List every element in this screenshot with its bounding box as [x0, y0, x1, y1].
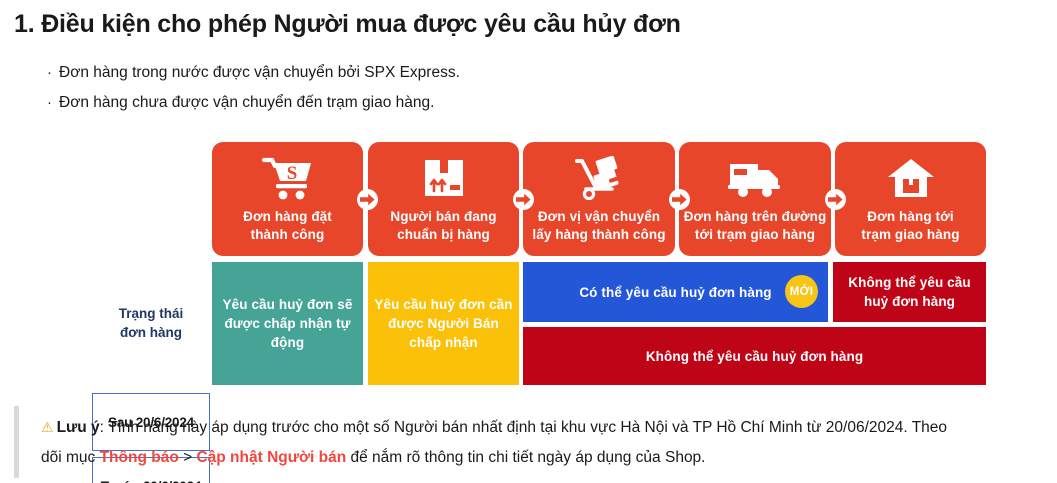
stage-card-order-placed: S Đơn hàng đặt thành công: [212, 142, 363, 256]
list-item-text: Đơn hàng trong nước được vận chuyển bởi …: [59, 58, 460, 88]
stage-card-label: Đơn vị vận chuyển lấy hàng thành công: [532, 208, 665, 244]
outcome-can-cancel: Có thể yêu cầu huỷ đơn hàng: [523, 262, 828, 322]
package-box-icon: [421, 152, 467, 204]
stage-card-label: Đơn hàng trên đường tới trạm giao hàng: [684, 208, 827, 244]
new-badge: MỚI: [785, 275, 818, 308]
link-cap-nhat-nguoi-ban[interactable]: Cập nhật Người bán: [196, 449, 346, 466]
warehouse-home-icon: [886, 152, 936, 204]
outcome-cannot-cancel-after: Không thể yêu cầu huỷ đơn hàng: [833, 262, 986, 322]
hand-truck-icon: [571, 152, 627, 204]
page-title: 1. Điều kiện cho phép Người mua được yêu…: [14, 10, 681, 39]
stage-card-label: Người bán đang chuẩn bị hàng: [390, 208, 496, 244]
article-page: 1. Điều kiện cho phép Người mua được yêu…: [0, 0, 1057, 483]
stage-card-row: S Đơn hàng đặt thành công: [212, 142, 986, 256]
row-axis-label-line1: Trạng thái: [92, 304, 210, 323]
bullet-marker-icon: ·: [47, 58, 59, 88]
bullet-list: · Đơn hàng trong nước được vận chuyển bở…: [47, 58, 460, 118]
link-thong-bao[interactable]: Thông báo: [100, 449, 179, 466]
stage-card-in-transit: Đơn hàng trên đường tới trạm giao hàng: [679, 142, 831, 256]
note-text-2a: dõi mục: [41, 449, 100, 466]
note-bold-prefix: Lưu ý: [57, 419, 100, 436]
outcome-auto-accept: Yêu cầu huỷ đơn sẽ được chấp nhận tự độn…: [212, 262, 363, 385]
stage-card-arrived-hub: Đơn hàng tới trạm giao hàng: [835, 142, 986, 256]
note-line-1: ⚠Lưu ý: Tính năng này áp dụng trước cho …: [41, 412, 1044, 443]
row-axis-label-line2: đơn hàng: [92, 323, 210, 342]
outcome-seller-approval: Yêu cầu huỷ đơn cần được Người Bán chấp …: [368, 262, 519, 385]
arrow-right-icon: [513, 189, 534, 210]
list-item: · Đơn hàng chưa được vận chuyển đến trạm…: [47, 88, 460, 118]
stage-card-label: Đơn hàng đặt thành công: [243, 208, 332, 244]
order-status-infographic: Trạng thái đơn hàng Sau 20/6/2024 Trước …: [0, 132, 1057, 394]
stage-card-seller-preparing: Người bán đang chuẩn bị hàng: [368, 142, 519, 256]
stage-card-label: Đơn hàng tới trạm giao hàng: [861, 208, 959, 244]
bullet-marker-icon: ·: [47, 88, 59, 118]
row-axis-label: Trạng thái đơn hàng: [92, 304, 210, 342]
warning-icon: ⚠: [41, 419, 54, 435]
note-line-2: dõi mục Thông báo > Cập nhật Người bán đ…: [41, 443, 1044, 473]
stage-card-carrier-picked-up: Đơn vị vận chuyển lấy hàng thành công: [523, 142, 675, 256]
note-text-1: : Tính năng này áp dụng trước cho một số…: [100, 419, 947, 436]
list-item-text: Đơn hàng chưa được vận chuyển đến trạm g…: [59, 88, 434, 118]
note-callout: ⚠Lưu ý: Tính năng này áp dụng trước cho …: [14, 406, 1044, 478]
list-item: · Đơn hàng trong nước được vận chuyển bở…: [47, 58, 460, 88]
note-separator: >: [179, 449, 197, 466]
shopping-cart-icon: S: [262, 152, 314, 204]
arrow-right-icon: [825, 189, 846, 210]
outcome-cannot-cancel-before: Không thể yêu cầu huỷ đơn hàng: [523, 327, 986, 385]
note-text-2b: để nắm rõ thông tin chi tiết ngày áp dụn…: [346, 449, 705, 466]
delivery-truck-icon: [726, 152, 784, 204]
svg-text:S: S: [286, 163, 297, 184]
arrow-right-icon: [669, 189, 690, 210]
arrow-right-icon: [357, 189, 378, 210]
